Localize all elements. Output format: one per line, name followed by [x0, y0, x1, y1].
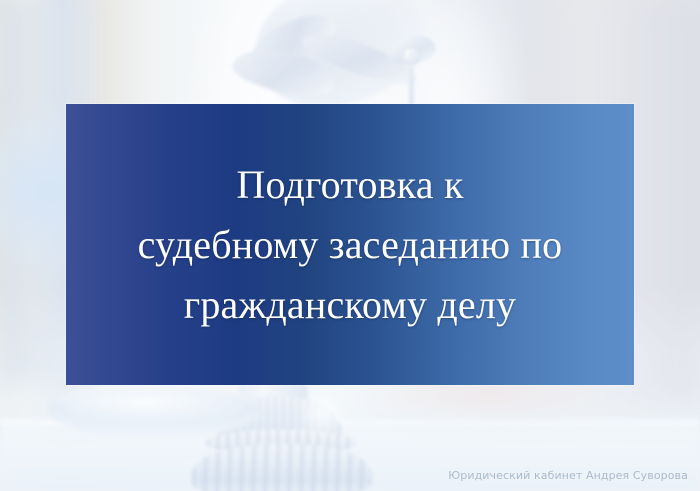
title-line-3: гражданскому делу: [184, 279, 516, 331]
title-plate: Подготовка к судебному заседанию по граж…: [66, 104, 634, 385]
watermark-credit: Юридический кабинет Андрея Суворова: [448, 469, 688, 482]
title-line-2: судебному заседанию по: [138, 219, 563, 271]
title-banner: Подготовка к судебному заседанию по граж…: [0, 0, 700, 491]
title-line-1: Подготовка к: [236, 159, 463, 211]
